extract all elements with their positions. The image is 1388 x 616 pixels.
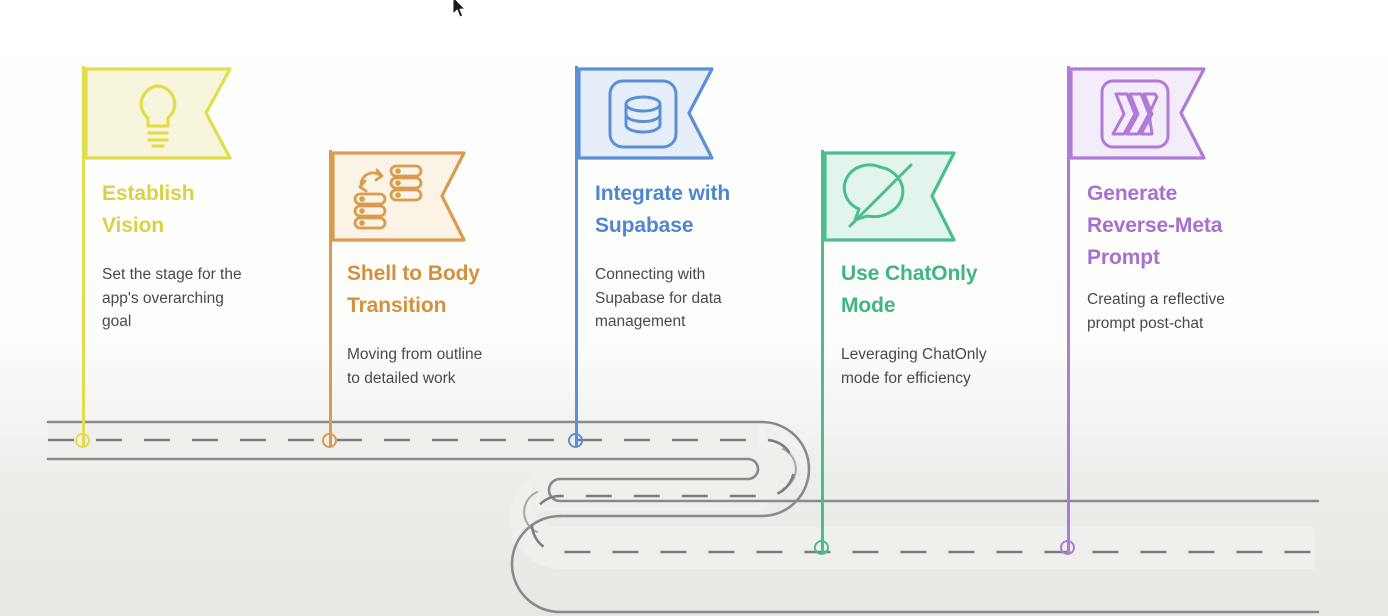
milestone-desc-1: Set the stage for the app's overarching …	[102, 263, 302, 334]
road-marker-4[interactable]	[814, 540, 829, 555]
flag-banner-3[interactable]	[577, 66, 714, 162]
road-marker-3[interactable]	[568, 433, 583, 448]
road-marker-2[interactable]	[322, 433, 337, 448]
milestone-title-3: Integrate with Supabase	[595, 178, 815, 242]
milestone-title-5: Generate Reverse-Meta Prompt	[1087, 178, 1302, 274]
milestone-desc-3: Connecting with Supabase for data manage…	[595, 263, 805, 334]
flag-banner-4[interactable]	[823, 150, 956, 244]
milestone-title-2: Shell to Body Transition	[347, 258, 562, 322]
milestone-title-1: Establish Vision	[102, 178, 302, 242]
milestone-title-4: Use ChatOnly Mode	[841, 258, 1066, 322]
flag-banner-2[interactable]	[331, 150, 466, 244]
roadmap-canvas: Establish Vision Set the stage for the a…	[0, 0, 1388, 616]
milestone-layer: Establish Vision Set the stage for the a…	[0, 0, 1388, 616]
road-marker-5[interactable]	[1060, 540, 1075, 555]
milestone-desc-2: Moving from outline to detailed work	[347, 343, 562, 390]
milestone-desc-4: Leveraging ChatOnly mode for efficiency	[841, 343, 1066, 390]
mouse-pointer-icon	[451, 0, 467, 20]
flag-banner-1[interactable]	[84, 66, 232, 162]
road-marker-1[interactable]	[75, 433, 90, 448]
milestone-desc-5: Creating a reflective prompt post-chat	[1087, 288, 1302, 335]
flag-banner-5[interactable]	[1069, 66, 1206, 162]
